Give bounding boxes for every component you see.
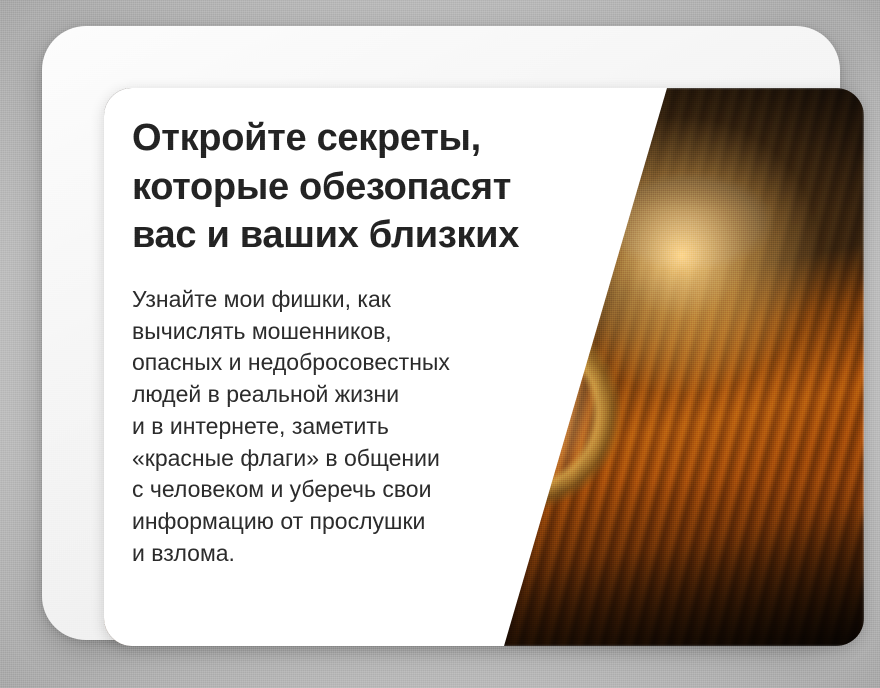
page-backdrop: Откройте секреты, которые обезопасят вас…	[0, 0, 880, 688]
outer-card-frame: Откройте секреты, которые обезопасят вас…	[42, 26, 840, 640]
text-content-block: Откройте секреты, которые обезопасят вас…	[132, 114, 552, 569]
body-description: Узнайте мои фишки, как вычислять мошенни…	[132, 284, 532, 570]
page-title: Откройте секреты, которые обезопасят вас…	[132, 114, 562, 260]
promo-card: Откройте секреты, которые обезопасят вас…	[104, 88, 864, 646]
